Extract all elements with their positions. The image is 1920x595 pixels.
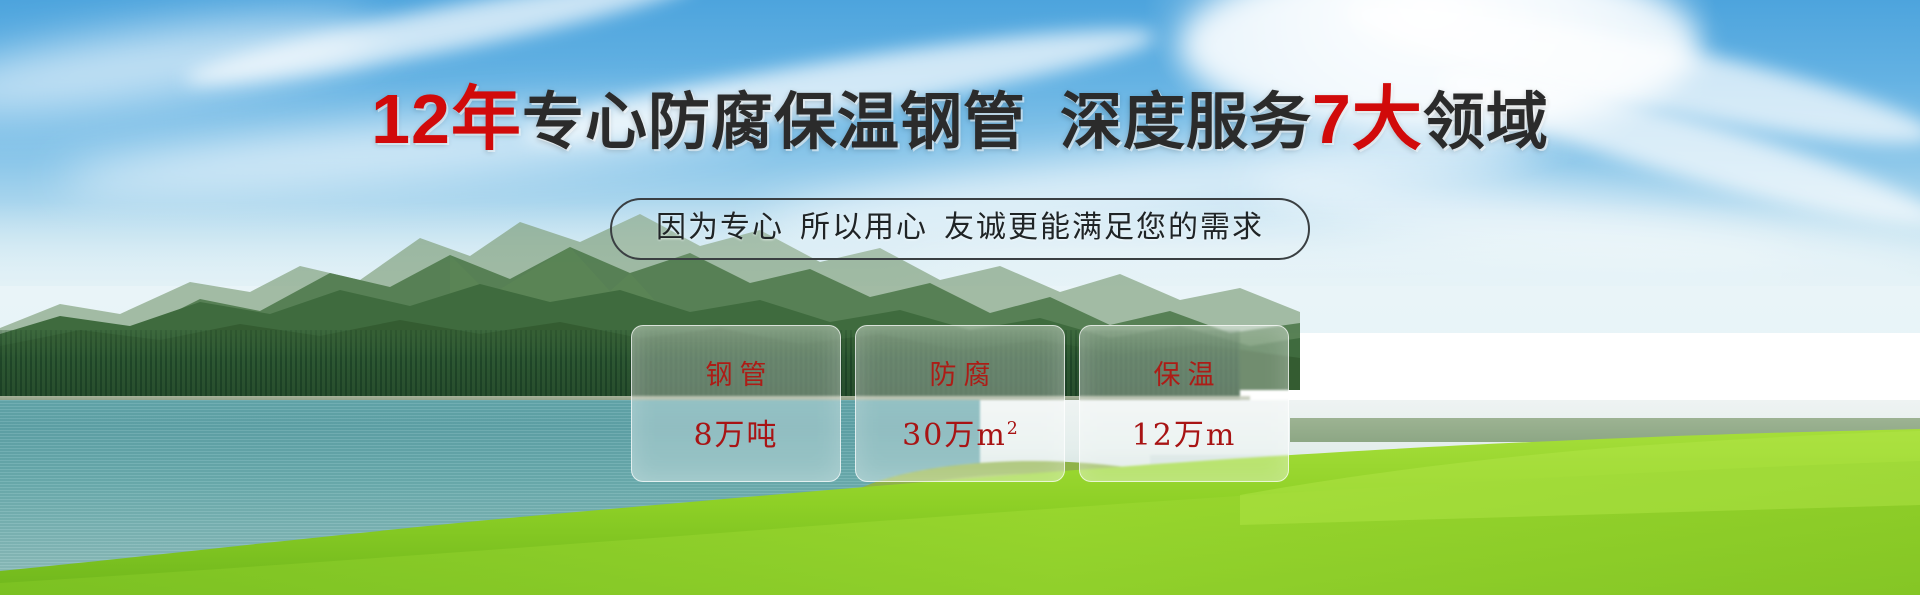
subtitle-container: 因为专心所以用心友诚更能满足您的需求: [0, 198, 1920, 260]
stat-value-text: 12万m: [1132, 418, 1237, 453]
stat-value-text: 8万吨: [693, 418, 778, 453]
stat-card-insulation: 保温 12万m: [1079, 325, 1289, 482]
headline-years-highlight: 12年: [371, 80, 522, 158]
stat-value-superscript: 2: [1007, 419, 1018, 439]
promo-banner: 12年专心防腐保温钢管深度服务7大领域 因为专心所以用心友诚更能满足您的需求 钢…: [0, 0, 1920, 595]
headline-main-text: 专心防腐保温钢管: [522, 88, 1026, 157]
headline-sectors-highlight: 7大: [1312, 80, 1423, 158]
subtitle-pill: 因为专心所以用心友诚更能满足您的需求: [610, 198, 1310, 260]
stat-value-text: 30万m: [902, 418, 1007, 453]
stat-card-anticorrosion: 防腐 30万m2: [855, 325, 1065, 482]
stat-card-value: 8万吨: [693, 410, 778, 454]
stat-card-value: 30万m2: [902, 410, 1018, 454]
page-title: 12年专心防腐保温钢管深度服务7大领域: [0, 84, 1920, 154]
stat-card-title: 钢管: [699, 353, 774, 392]
subtitle-part-1: 因为专心: [656, 211, 784, 244]
stat-card-list: 钢管 8万吨 防腐 30万m2 保温 12万m: [0, 325, 1920, 482]
headline-sectors-text: 领域: [1423, 88, 1549, 157]
subtitle-part-2: 所以用心: [800, 211, 928, 244]
stat-card-title: 防腐: [923, 353, 998, 392]
headline-service-text: 深度服务: [1060, 88, 1312, 157]
stat-card-title: 保温: [1147, 353, 1222, 392]
stat-card-value: 12万m: [1132, 410, 1237, 454]
subtitle-part-3: 友诚更能满足您的需求: [944, 211, 1264, 244]
stat-card-steel-pipe: 钢管 8万吨: [631, 325, 841, 482]
